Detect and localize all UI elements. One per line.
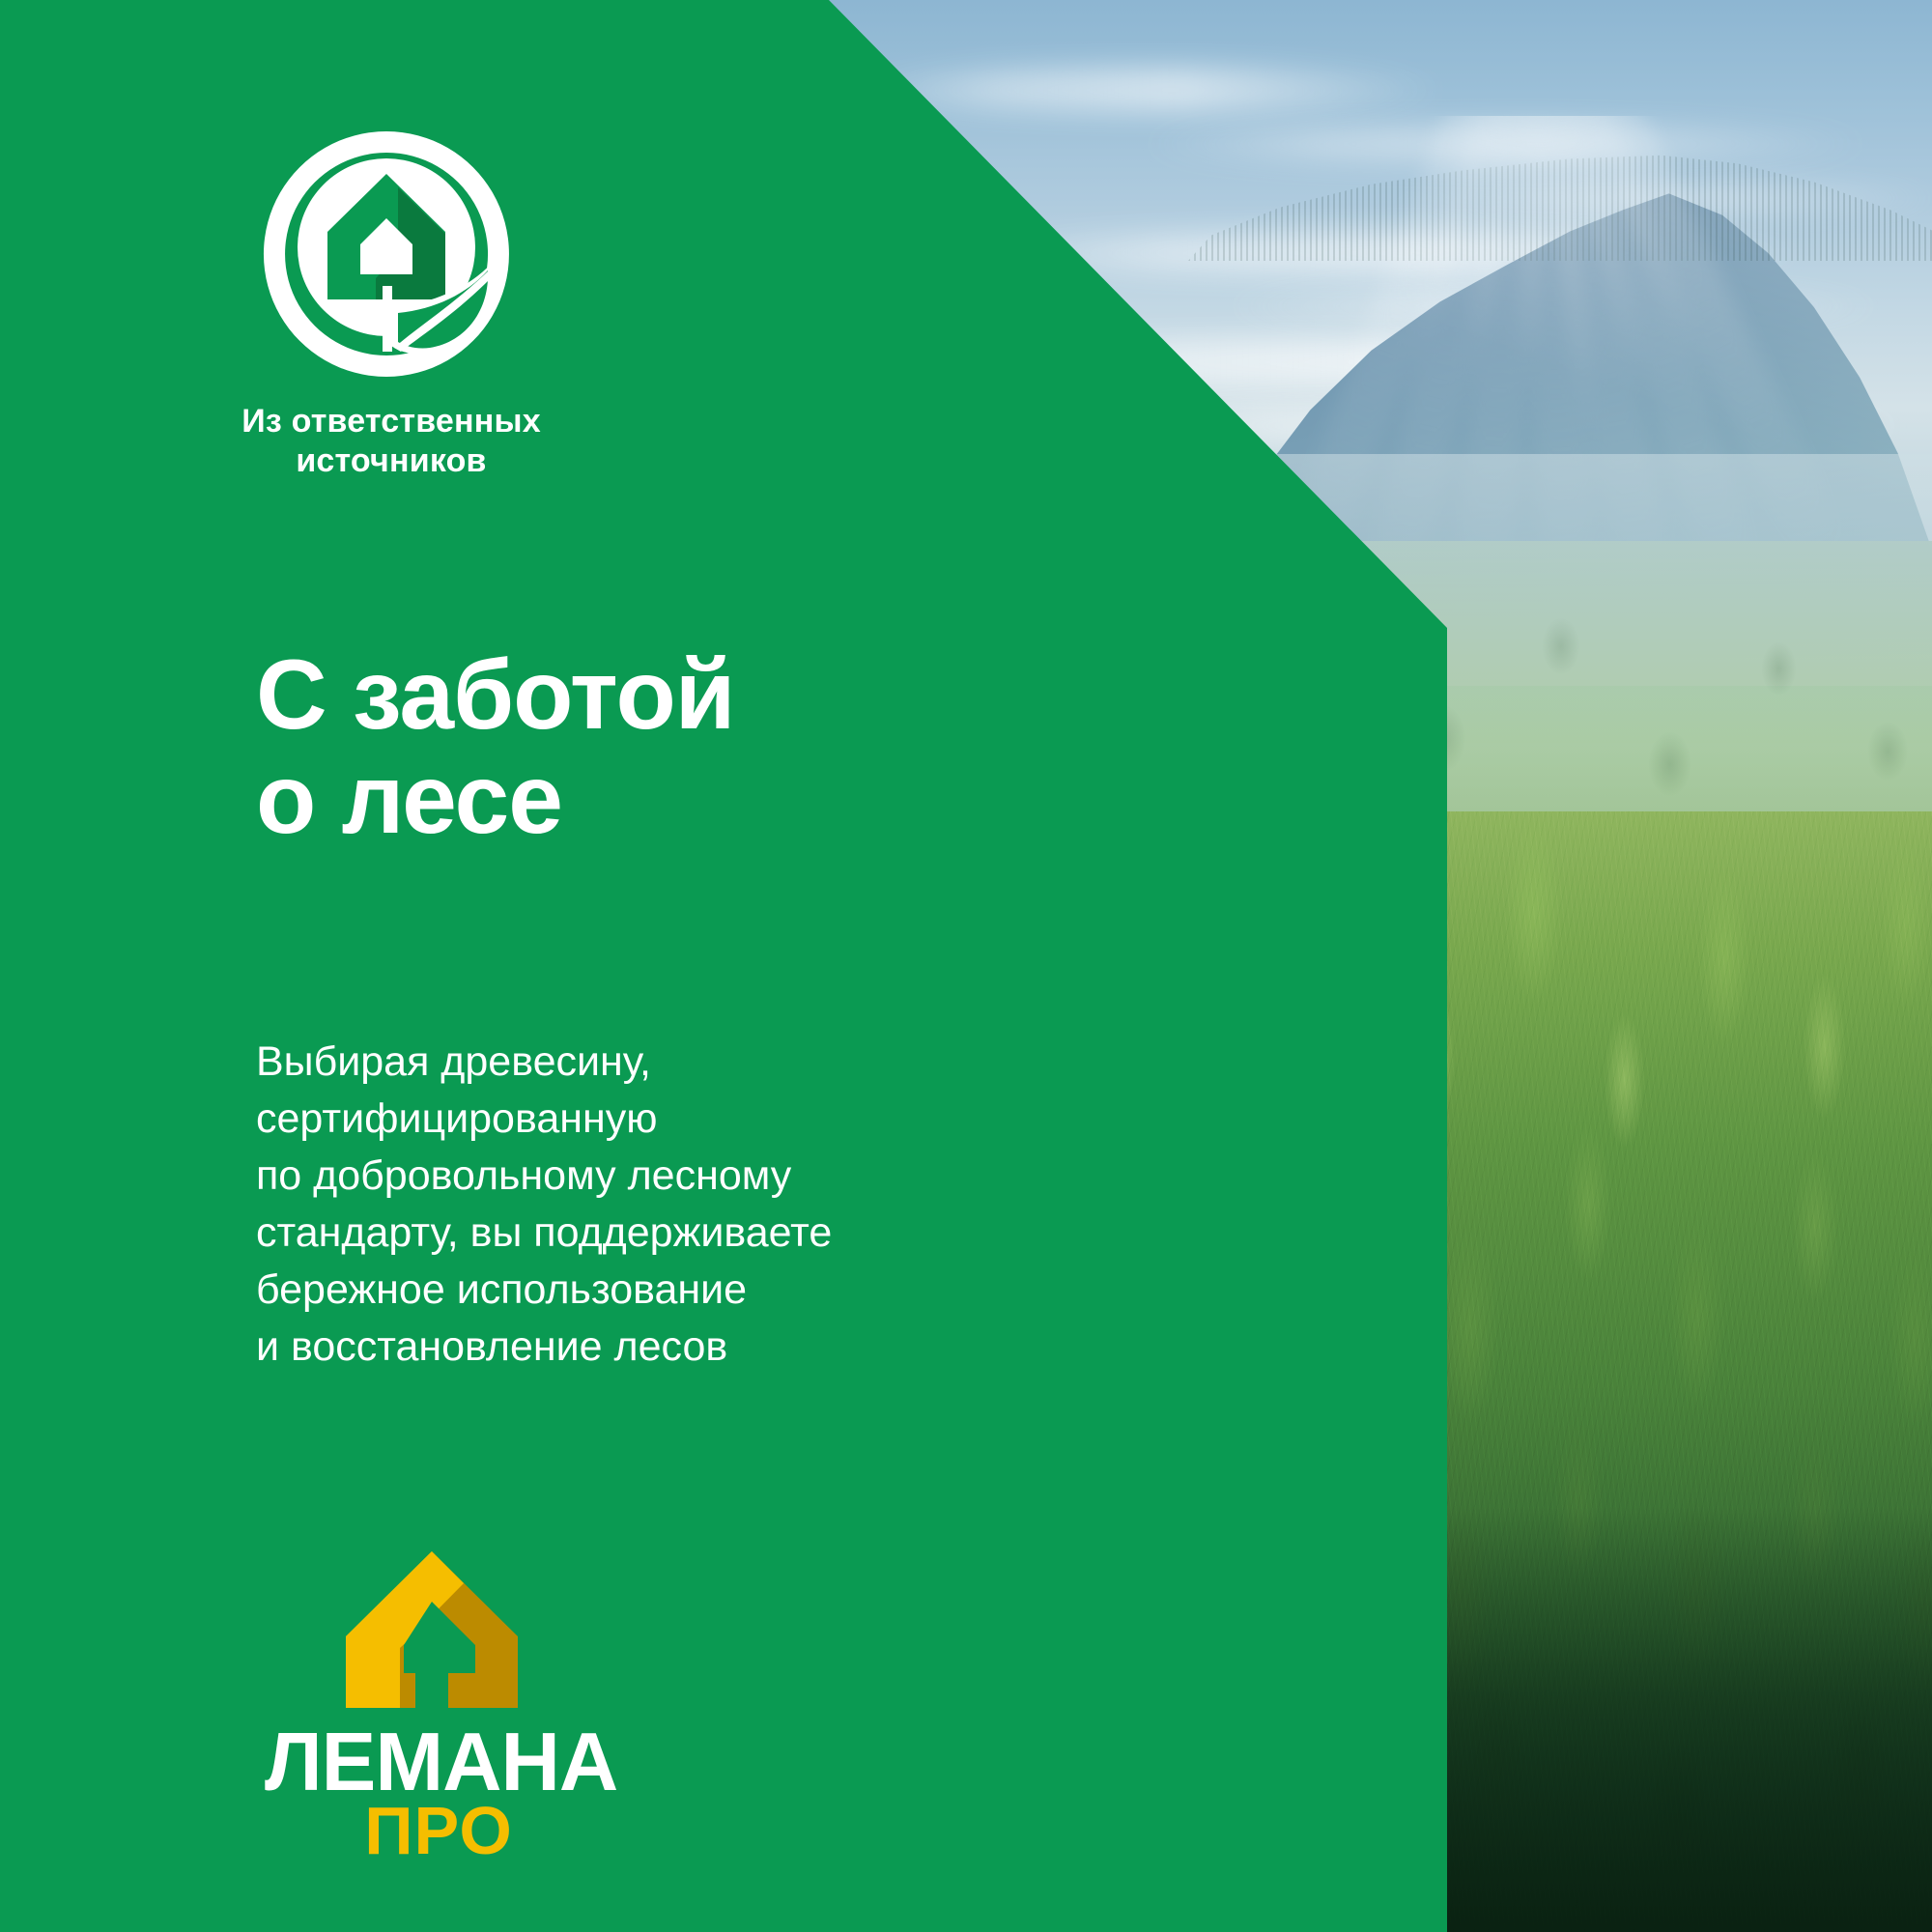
body-line4: стандарту, вы поддерживаете [256, 1205, 1009, 1262]
body-line2: сертифицированную [256, 1091, 1009, 1148]
brand-name: ЛЕМАНА [265, 1721, 612, 1804]
atmospheric-haze [1043, 454, 1932, 860]
body-paragraph: Выбирая древесину, сертифицированную по … [256, 1034, 1009, 1375]
brand-suffix: ПРО [265, 1797, 612, 1864]
badge-caption-line1: Из ответственных [198, 402, 584, 441]
headline-line1: С заботой [256, 642, 990, 747]
badge-caption: Из ответственных источников [198, 402, 584, 481]
content-column: Из ответственных источников С заботой о … [0, 0, 1063, 1932]
page-title: С заботой о лесе [256, 642, 990, 851]
lemana-house-icon [340, 1548, 524, 1712]
body-line1: Выбирая древесину, [256, 1034, 1009, 1091]
brand-logo: ЛЕМАНА ПРО [278, 1548, 626, 1866]
forest-canopy-shadow [1043, 1507, 1932, 1932]
eco-house-leaf-circle-icon [256, 124, 517, 384]
badge-caption-line2: источников [198, 441, 584, 481]
body-line3: по добровольному лесному [256, 1148, 1009, 1205]
responsible-sources-badge: Из ответственных источников [256, 124, 546, 510]
poster-root: Из ответственных источников С заботой о … [0, 0, 1932, 1932]
body-line5: бережное использование [256, 1262, 1009, 1319]
body-line6: и восстановление лесов [256, 1319, 1009, 1376]
headline-line2: о лесе [256, 747, 990, 851]
